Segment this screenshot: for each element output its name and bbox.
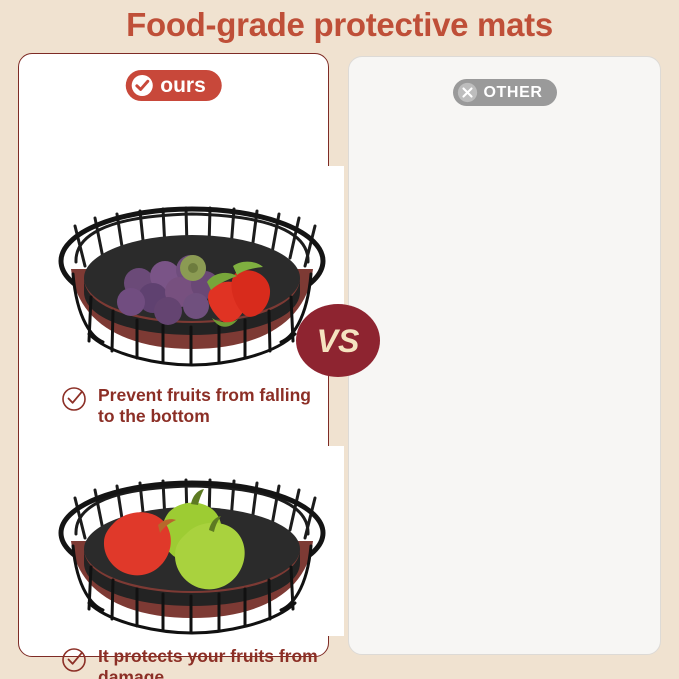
vs-badge: VS: [296, 304, 380, 377]
ours-panel: ours: [18, 53, 329, 657]
vs-label: VS: [317, 325, 360, 357]
ours-caption-2: It protects your fruits from damage: [61, 646, 323, 679]
check-circle-icon: [61, 647, 87, 673]
wire-basket-apples-illustration: [41, 446, 344, 636]
other-badge: OTHER: [453, 79, 557, 106]
other-badge-label: OTHER: [484, 85, 543, 101]
ours-product-image-bottom: [41, 446, 344, 636]
ours-caption-2-text: It protects your fruits from damage: [98, 646, 323, 679]
ours-caption-1-text: Prevent fruits from falling to the botto…: [98, 385, 323, 428]
other-panel: OTHER: [348, 56, 661, 655]
ours-caption-1: Prevent fruits from falling to the botto…: [61, 385, 323, 428]
x-circle-icon: [457, 82, 478, 103]
check-circle-icon: [130, 74, 153, 97]
check-circle-icon: [61, 386, 87, 412]
page-title: Food-grade protective mats: [0, 6, 679, 44]
ours-badge: ours: [125, 70, 222, 101]
ours-badge-label: ours: [160, 75, 206, 96]
